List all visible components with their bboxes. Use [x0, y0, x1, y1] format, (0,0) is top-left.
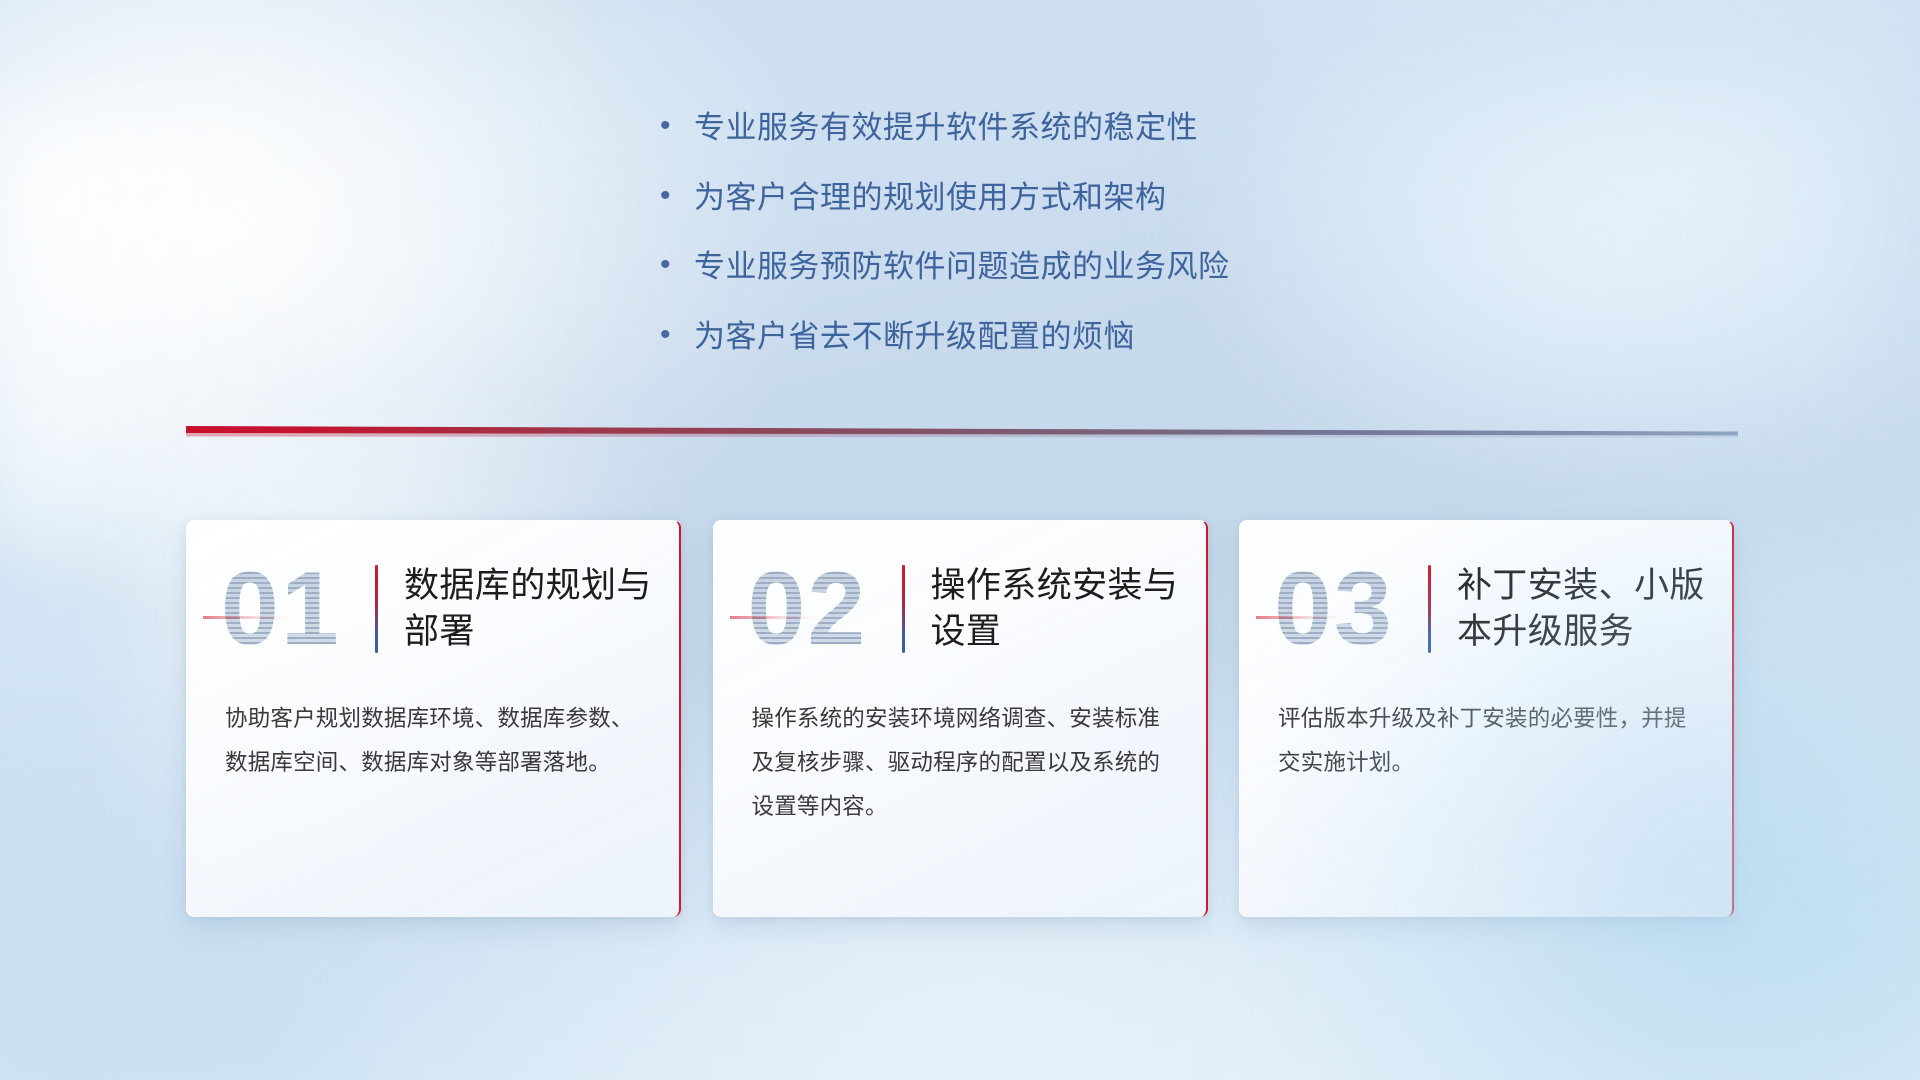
- bullet-item-label-3: 专业服务预防软件问题造成的业务风险: [694, 247, 1230, 287]
- list-item: • 专业服务预防软件问题造成的业务风险: [660, 247, 1420, 287]
- card-title-03: 补丁安装、小版本升级服务: [1457, 563, 1706, 655]
- service-card-01[interactable]: 01 数据库的规划与部署 协助客户规划数据库环境、数据库参数、数据库空间、数据库…: [186, 520, 681, 917]
- card-header: 02 操作系统安装与设置: [714, 521, 1206, 697]
- bullet-dot-icon: •: [660, 111, 694, 141]
- service-card-row: 01 数据库的规划与部署 协助客户规划数据库环境、数据库参数、数据库空间、数据库…: [186, 520, 1734, 917]
- list-item: • 为客户省去不断升级配置的烦恼: [660, 317, 1420, 357]
- card-number-01: 01: [221, 557, 371, 661]
- list-item: • 为客户合理的规划使用方式和架构: [660, 178, 1420, 218]
- title-divider-rule: [902, 565, 905, 653]
- title-divider-rule: [1428, 565, 1431, 653]
- bullet-dot-icon: •: [660, 320, 694, 350]
- bullet-item-label-4: 为客户省去不断升级配置的烦恼: [694, 317, 1135, 357]
- card-title-01: 数据库的规划与部署: [404, 563, 653, 655]
- card-header: 03 补丁安装、小版本升级服务: [1240, 521, 1732, 697]
- card-number-03: 03: [1274, 557, 1424, 661]
- card-body-01: 协助客户规划数据库环境、数据库参数、数据库空间、数据库对象等部署落地。: [187, 697, 679, 785]
- bullet-dot-icon: •: [660, 181, 694, 211]
- bullet-item-label-2: 为客户合理的规划使用方式和架构: [694, 178, 1167, 218]
- card-number-02: 02: [748, 557, 898, 661]
- benefits-bullet-list: • 专业服务有效提升软件系统的稳定性 • 为客户合理的规划使用方式和架构 • 专…: [660, 108, 1420, 387]
- card-title-02: 操作系统安装与设置: [931, 563, 1180, 655]
- gradient-arrow-divider: [186, 424, 1738, 444]
- bullet-item-label-1: 专业服务有效提升软件系统的稳定性: [694, 108, 1198, 148]
- slide-canvas: • 专业服务有效提升软件系统的稳定性 • 为客户合理的规划使用方式和架构 • 专…: [0, 0, 1920, 1080]
- card-body-02: 操作系统的安装环境网络调查、安装标准及复核步骤、驱动程序的配置以及系统的设置等内…: [714, 697, 1206, 829]
- background-glow-top-left: [0, 120, 420, 540]
- bullet-dot-icon: •: [660, 250, 694, 280]
- title-divider-rule: [375, 565, 378, 653]
- service-card-03[interactable]: 03 补丁安装、小版本升级服务 评估版本升级及补丁安装的必要性，并提交实施计划。: [1239, 520, 1734, 917]
- service-card-02[interactable]: 02 操作系统安装与设置 操作系统的安装环境网络调查、安装标准及复核步骤、驱动程…: [713, 520, 1208, 917]
- list-item: • 专业服务有效提升软件系统的稳定性: [660, 108, 1420, 148]
- card-header: 01 数据库的规划与部署: [187, 521, 679, 697]
- card-body-03: 评估版本升级及补丁安装的必要性，并提交实施计划。: [1240, 697, 1732, 785]
